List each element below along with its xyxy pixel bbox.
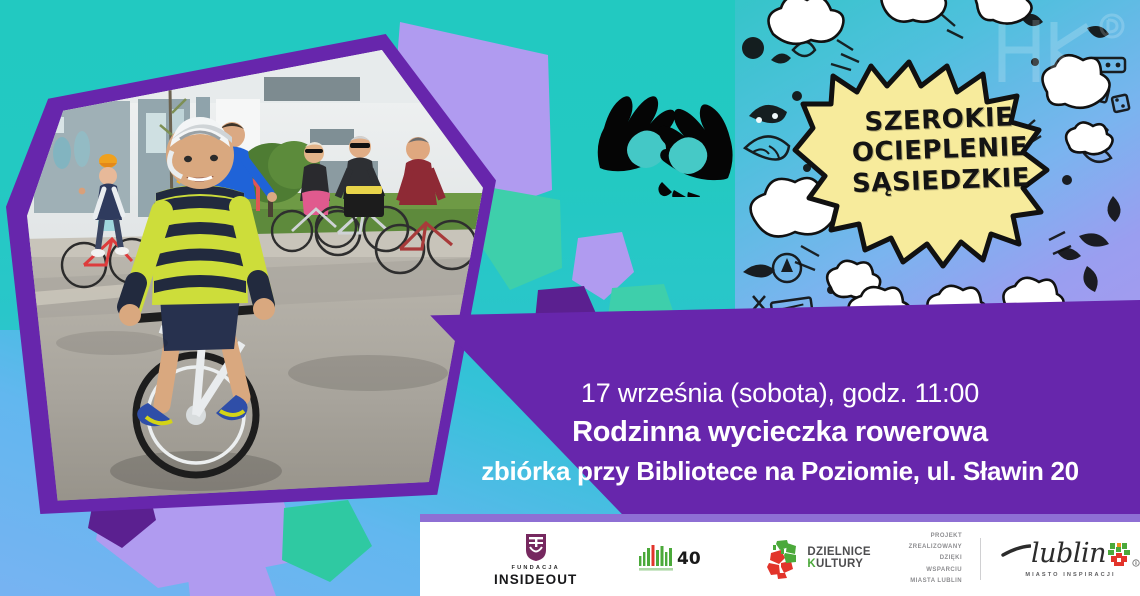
- projekt-line-3: DZIĘKI WSPARCIU: [905, 553, 962, 575]
- event-title: Rodzinna wycieczka rowerowa: [430, 416, 1130, 449]
- campaign-logo-graphic: SZEROKIE OCIEPLENIE SĄSIEDZKIE: [735, 0, 1140, 350]
- svg-text:40: 40: [677, 549, 701, 569]
- lublin-wordmark: lublin: [1031, 542, 1106, 566]
- svg-text:R: R: [1135, 561, 1138, 566]
- burst-line-2: OCIEPLENIE: [851, 133, 1028, 167]
- sign-language-hands-icon: [588, 82, 738, 197]
- lublin-emblem-icon: [1106, 541, 1132, 567]
- dzielnice-map-icon: [763, 539, 801, 579]
- logo-projekt-wsparcie: PROJEKT ZREALIZOWANY DZIĘKI WSPARCIU MIA…: [905, 531, 962, 586]
- mhp-bars-icon: 40: [639, 544, 701, 574]
- sponsor-logo-bar: FUNDACJA INSIDEOUT 40: [420, 522, 1140, 596]
- lublin-stroke-icon: [1001, 541, 1031, 567]
- dzielnice-line-2: KULTURY: [807, 559, 870, 571]
- insideout-main: INSIDEOUT: [494, 572, 577, 587]
- logo-lublin: lublin: [1001, 541, 1140, 578]
- lublin-trademark-icon: R: [1132, 559, 1140, 567]
- logo-dzielnice-kultury: DZIELNICE KULTURY: [763, 539, 870, 579]
- insideout-crest-icon: [523, 532, 549, 562]
- lublin-tagline: MIASTO INSPIRACJI: [1025, 572, 1115, 578]
- logo-fundacja-insideout: FUNDACJA INSIDEOUT: [494, 532, 577, 587]
- event-meeting-point: zbiórka przy Bibliotece na Poziomie, ul.…: [430, 456, 1130, 487]
- projekt-line-4: MIASTA LUBLIN: [910, 576, 962, 587]
- dzielnice-k-accent: K: [807, 558, 816, 570]
- burst-line-3: SĄSIEDZKIE: [852, 163, 1031, 197]
- event-copy: 17 września (sobota), godz. 11:00 Rodzin…: [430, 378, 1130, 487]
- event-date-time: 17 września (sobota), godz. 11:00: [430, 378, 1130, 409]
- family-cycling-photo: [20, 43, 490, 510]
- panel-bottom-strip: [420, 514, 1140, 522]
- projekt-line-1: PROJEKT: [931, 531, 963, 542]
- insideout-sub: FUNDACJA: [512, 565, 560, 571]
- dzielnice-rest: ULTURY: [816, 558, 863, 570]
- burst-line-1: SZEROKIE: [864, 104, 1014, 137]
- logo-mhp-40: 40: [639, 544, 701, 574]
- watermark-logo: [984, 4, 1134, 99]
- footer-divider: [980, 538, 981, 580]
- poster-canvas: SZEROKIE OCIEPLENIE SĄSIEDZKIE 17 wrześn: [0, 0, 1140, 596]
- projekt-line-2: ZREALIZOWANY: [909, 542, 962, 553]
